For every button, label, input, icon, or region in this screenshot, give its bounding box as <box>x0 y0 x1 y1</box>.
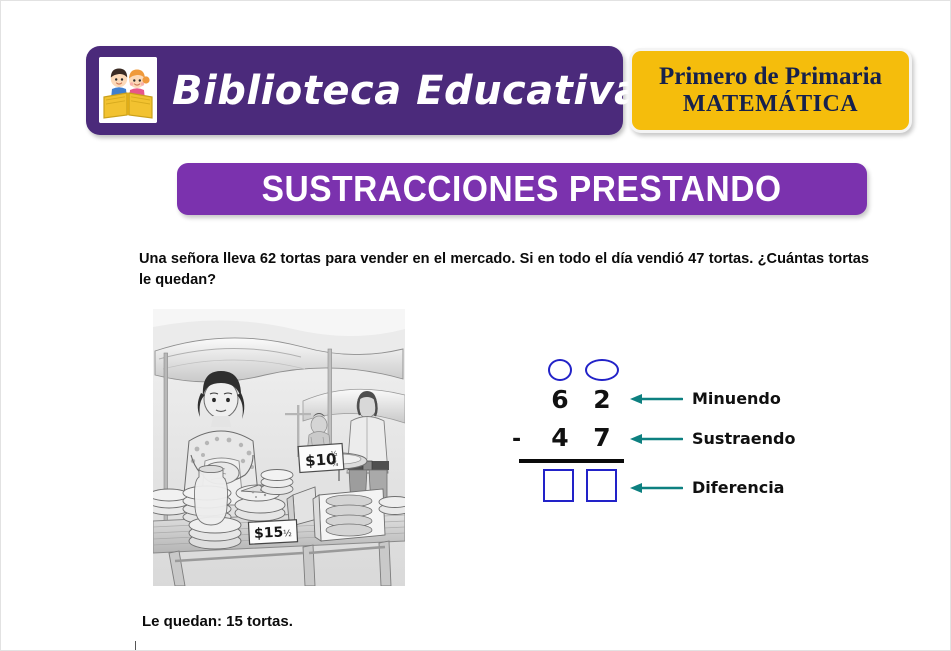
problem-statement: Una señora lleva 62 tortas para vender e… <box>139 249 869 291</box>
difference-box-tens[interactable] <box>543 469 574 502</box>
subtraction-diagram: 6 2 - 4 7 Minuendo Sustraendo <box>501 351 801 511</box>
answer-text: Le quedan: 15 tortas. <box>142 613 293 630</box>
difference-box-ones[interactable] <box>586 469 617 502</box>
left-arrow-icon <box>629 392 683 406</box>
difference-label: Diferencia <box>692 478 784 497</box>
borrow-oval-ones <box>585 359 619 381</box>
minuend-label: Minuendo <box>692 389 781 408</box>
svg-text:¼: ¼ <box>331 460 339 468</box>
minuend-annotation: Minuendo <box>629 389 781 408</box>
worksheet-page: Biblioteca Educativa Primero de Primaria… <box>0 0 951 651</box>
borrow-oval-tens <box>548 359 572 381</box>
title-banner: SUSTRACCIONES PRESTANDO <box>177 163 867 215</box>
grade-badge: Primero de Primaria MATEMÁTICA <box>629 48 912 133</box>
minuend-digit-ones: 2 <box>587 385 617 414</box>
grade-level-text: Primero de Primaria <box>659 63 882 91</box>
svg-text:½: ½ <box>330 450 338 458</box>
subtrahend-digit-ones: 7 <box>587 423 617 452</box>
minuend-digit-tens: 6 <box>545 385 575 414</box>
svg-text:$15: $15 <box>254 524 284 542</box>
left-arrow-icon <box>629 432 683 446</box>
children-reading-book-icon <box>99 57 157 123</box>
subject-text: MATEMÁTICA <box>683 91 858 118</box>
difference-annotation: Diferencia <box>629 478 784 497</box>
subtraction-rule-line <box>519 459 624 463</box>
subtrahend-label: Sustraendo <box>692 429 795 448</box>
logo-tile <box>99 57 157 123</box>
text-caret <box>135 641 136 650</box>
subtrahend-digit-tens: 4 <box>545 423 575 452</box>
header-bar: Biblioteca Educativa <box>86 46 623 135</box>
page-title: SUSTRACCIONES PRESTANDO <box>262 168 782 210</box>
brand-title: Biblioteca Educativa <box>172 68 642 114</box>
minus-operator: - <box>512 427 521 452</box>
subtrahend-annotation: Sustraendo <box>629 429 795 448</box>
market-stall-illustration: $10 ½ ¼ <box>153 309 405 586</box>
left-arrow-icon <box>629 481 683 495</box>
svg-text:½: ½ <box>283 529 293 539</box>
